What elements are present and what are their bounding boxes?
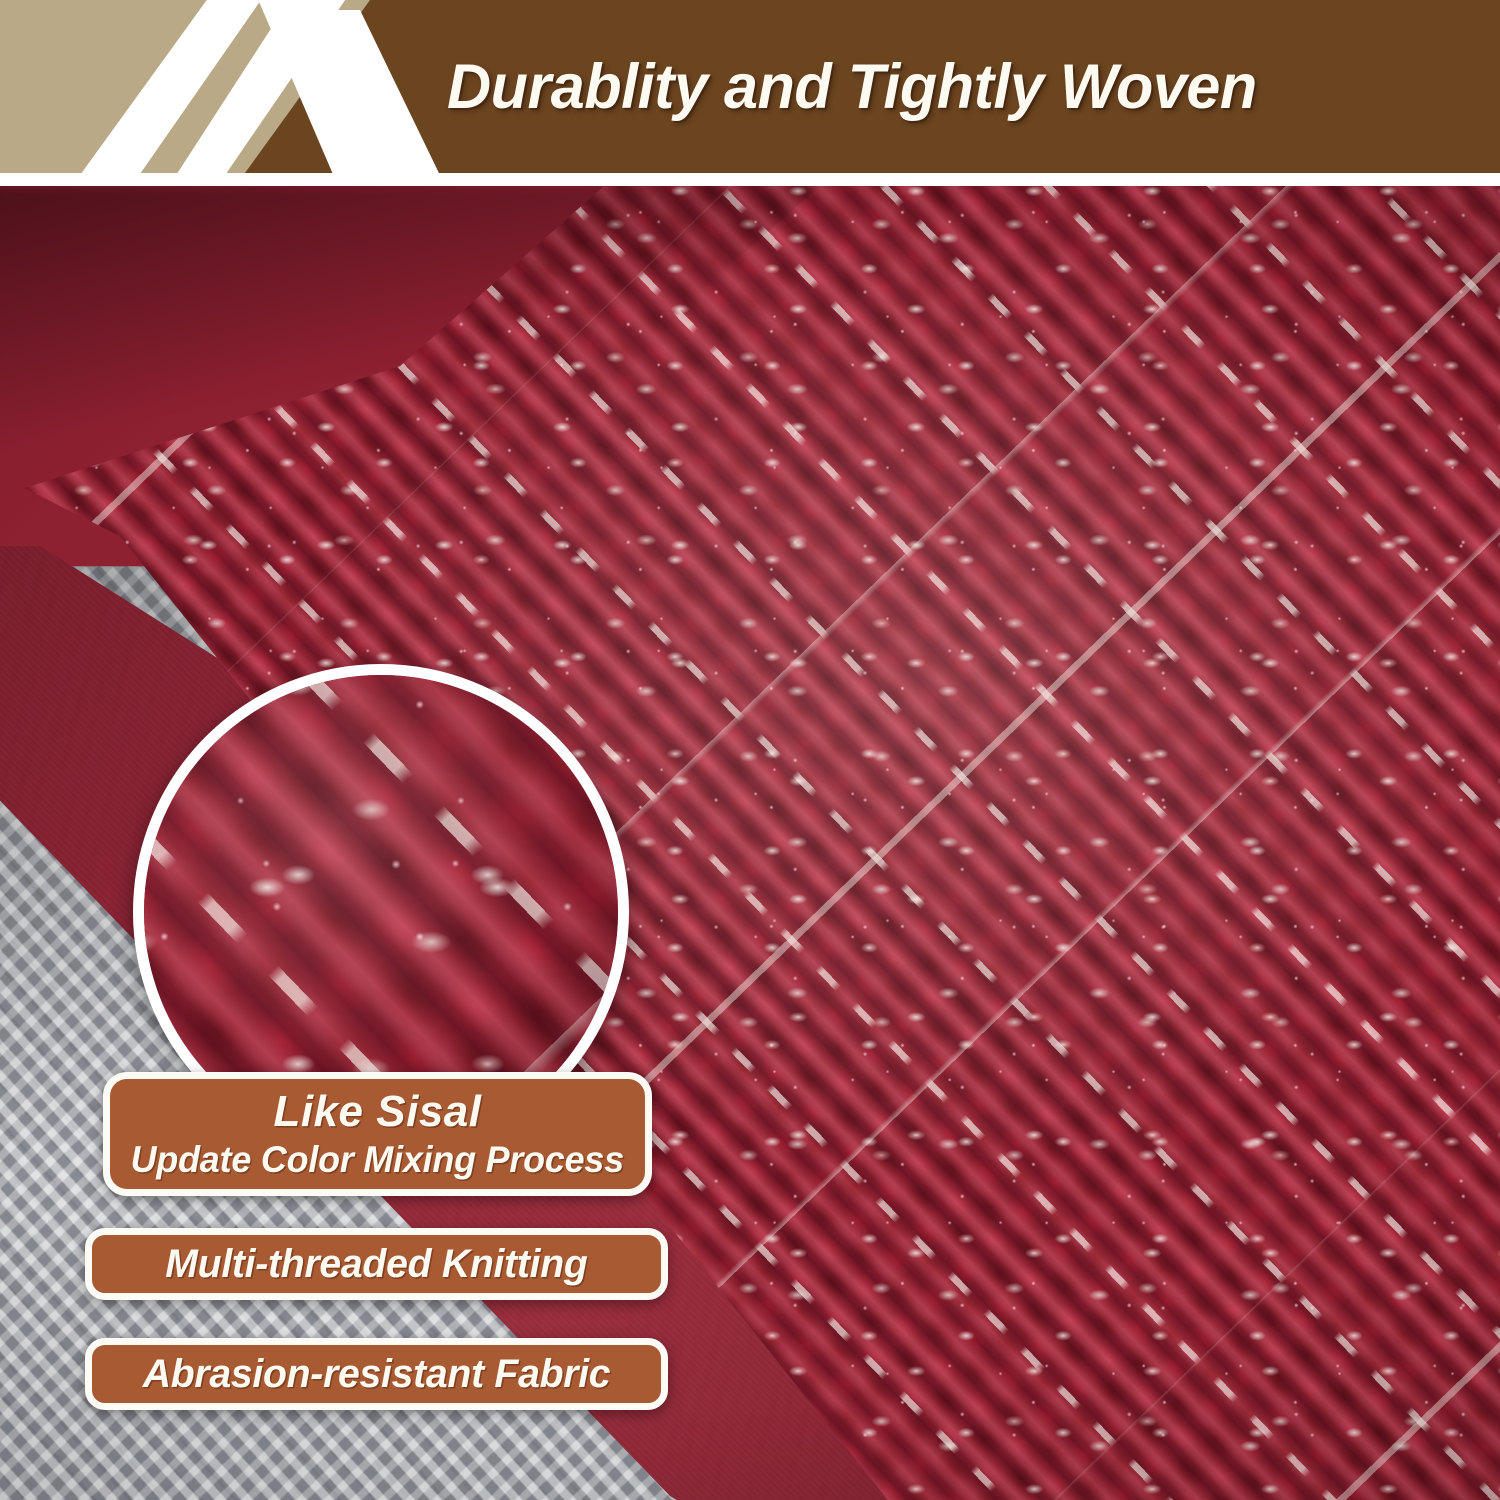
badge-like-sisal-subtitle: Update Color Mixing Process [131,1137,624,1183]
badge-like-sisal: Like Sisal Update Color Mixing Process [103,1072,652,1196]
badge-abrasion-resistant-fabric: Abrasion-resistant Fabric [85,1338,668,1410]
header-banner: Durablity and Tightly Woven [0,0,1500,186]
badge-abrasion-resistant-fabric-title: Abrasion-resistant Fabric [143,1350,611,1398]
header-title: Durablity and Tightly Woven [447,44,1461,134]
mountain-m-logo [0,0,500,173]
badge-multi-threaded-knitting-title: Multi-threaded Knitting [165,1240,587,1288]
carpet-photo [0,186,1500,1500]
header-divider [0,173,1500,186]
badge-multi-threaded-knitting: Multi-threaded Knitting [85,1228,668,1300]
product-feature-image: Durablity and Tightly Woven [0,0,1500,1500]
badge-like-sisal-title: Like Sisal [273,1087,481,1137]
